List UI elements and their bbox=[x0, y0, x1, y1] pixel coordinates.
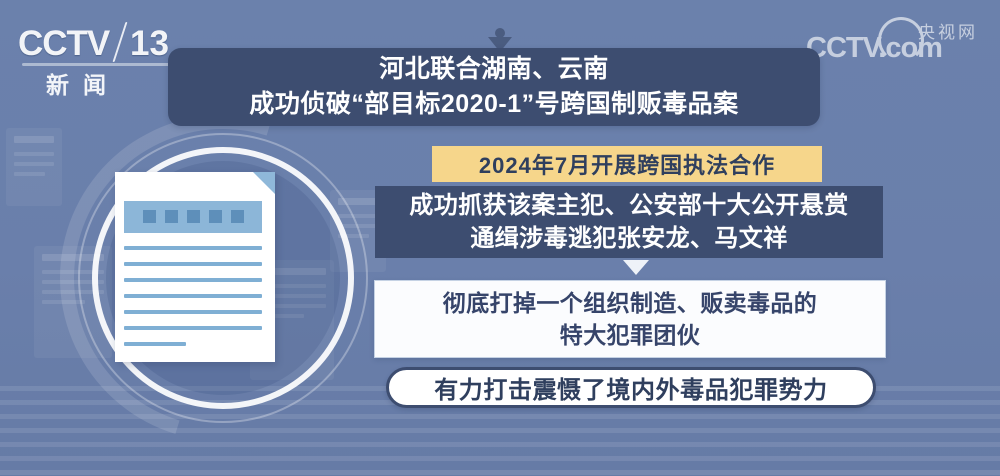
document-header-bar bbox=[124, 201, 262, 233]
result-box-line-1: 彻底打掉一个组织制造、贩卖毒品的 bbox=[443, 287, 817, 319]
flow-arrow-down-icon bbox=[623, 260, 649, 275]
logo-slash bbox=[113, 22, 128, 62]
document-text-line bbox=[124, 246, 262, 250]
document-text-line bbox=[124, 294, 262, 298]
document-text-line bbox=[124, 310, 262, 314]
highlight-label: 2024年7月开展跨国执法合作 bbox=[479, 148, 775, 180]
page-fold-corner bbox=[253, 172, 275, 194]
info-box: 成功抓获该案主犯、公安部十大公开悬赏 通缉涉毒逃犯张安龙、马文祥 bbox=[375, 186, 883, 258]
info-box-line-2: 通缉涉毒逃犯张安龙、马文祥 bbox=[470, 222, 787, 255]
headline-banner: 河北联合湖南、云南 成功侦破“部目标2020-1”号跨国制贩毒品案 bbox=[168, 48, 820, 126]
watermark-main-text: CCTV.com bbox=[806, 32, 942, 65]
document-text-line bbox=[124, 262, 262, 266]
headline-line-2: 成功侦破“部目标2020-1”号跨国制贩毒品案 bbox=[249, 87, 738, 122]
headline-line-1: 河北联合湖南、云南 bbox=[379, 52, 609, 87]
document-text-line bbox=[124, 326, 262, 330]
watermark-domain: com bbox=[885, 32, 942, 64]
document-text-line bbox=[124, 342, 186, 346]
document-text-line bbox=[124, 278, 262, 282]
conclusion-label: 有力打击震慑了境内外毒品犯罪势力 bbox=[434, 370, 828, 405]
channel-number: 13 bbox=[130, 24, 169, 64]
result-box: 彻底打掉一个组织制造、贩卖毒品的 特大犯罪团伙 bbox=[374, 280, 886, 358]
channel-name-cn: 新闻 bbox=[46, 66, 120, 100]
result-box-line-2: 特大犯罪团伙 bbox=[560, 319, 700, 351]
highlight-bar: 2024年7月开展跨国执法合作 bbox=[432, 146, 822, 182]
info-box-line-1: 成功抓获该案主犯、公安部十大公开悬赏 bbox=[409, 189, 848, 222]
cctv-com-watermark: 央视网 CCTV.com bbox=[806, 18, 986, 62]
cctv-wordmark: CCTV bbox=[18, 24, 109, 64]
document-illustration bbox=[115, 172, 275, 362]
ghost-document-1 bbox=[6, 128, 62, 206]
conclusion-banner: 有力打击震慑了境内外毒品犯罪势力 bbox=[386, 367, 876, 408]
broadcast-graphic: CCTV 13 新闻 央视网 CCTV.com 河北联合湖南、云南 成功侦破“部… bbox=[0, 0, 1000, 476]
